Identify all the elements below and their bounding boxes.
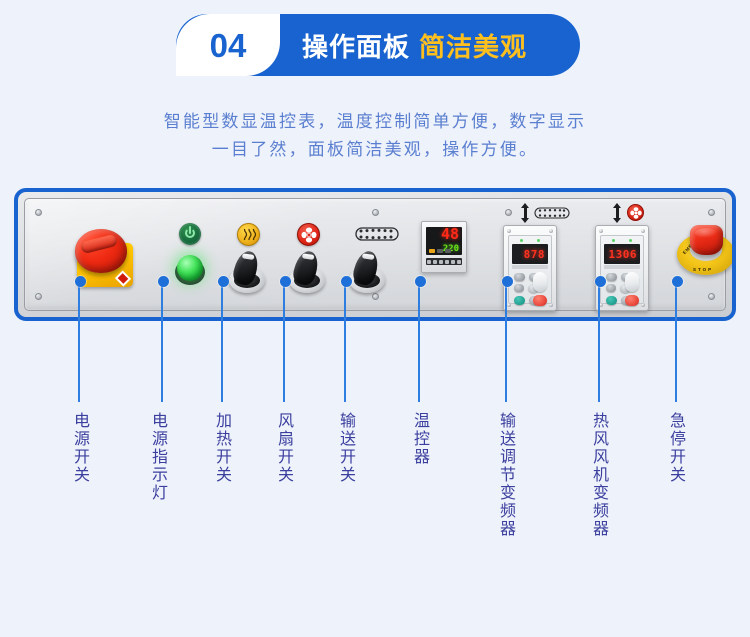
power-lamp-lens [177, 255, 203, 281]
vfd-key[interactable] [514, 284, 524, 292]
power-symbol-icon [179, 223, 201, 245]
vfd-run-key[interactable] [606, 296, 617, 305]
section-title-main: 操作面板 [302, 27, 410, 64]
description-line-1: 智能型数显温控表，温度控制简单方便，数字显示 [0, 108, 750, 136]
description-line-2: 一目了然，面板简洁美观，操作方便。 [0, 136, 750, 164]
callout-label-blower-inverter: 热风风机变频器 [587, 412, 609, 538]
fan-selector-switch[interactable] [289, 251, 325, 293]
disconnect-off-marker-icon [115, 270, 131, 286]
temperature-pv-value: 48 [441, 227, 459, 242]
callout-label-conveyor-inverter: 输送调节变频器 [494, 412, 516, 538]
emergency-stop-button[interactable]: EMER STOP [677, 225, 735, 279]
vfd-unit-legend [512, 265, 548, 269]
temperature-controller-display: 48 220 [426, 227, 462, 255]
callout-label-heating-switch: 加热开关 [210, 412, 232, 484]
disconnect-switch-lever [80, 234, 118, 254]
section-header-banner: 04 操作面板 简洁美观 [176, 14, 580, 76]
conveyor-inverter-display: 878 [512, 244, 548, 264]
power-disconnect-switch[interactable] [73, 229, 135, 289]
vfd-key[interactable] [514, 273, 525, 281]
heat-icon [237, 223, 260, 246]
panel-screw-icon [708, 209, 715, 216]
callout-label-emergency-stop: 急停开关 [664, 412, 686, 484]
callout-label-fan-switch: 风扇开关 [272, 412, 294, 484]
callout-label-power-switch: 电源开关 [68, 412, 90, 484]
vfd-status-leds [605, 238, 639, 243]
control-panel-photo: 48 220 [14, 188, 736, 321]
section-title-accent: 简洁美观 [419, 27, 527, 64]
vfd-potentiometer-knob[interactable] [625, 272, 639, 292]
blower-inverter-keypad[interactable] [603, 272, 641, 301]
panel-screw-icon [35, 293, 42, 300]
vfd-status-leds [513, 238, 547, 243]
vfd-screw-icon [507, 229, 511, 233]
vfd-key[interactable] [606, 273, 617, 281]
panel-screw-icon [372, 209, 379, 216]
callout-label-temperature-control: 温控器 [408, 412, 430, 466]
vfd-key[interactable] [606, 284, 616, 292]
conveyor-selector-switch[interactable] [349, 251, 385, 293]
fan-icon [297, 223, 320, 246]
heating-selector-switch[interactable] [229, 251, 265, 293]
section-description: 智能型数显温控表，温度控制简单方便，数字显示 一目了然，面板简洁美观，操作方便。 [0, 108, 750, 164]
blower-inverter-display: 1306 [604, 244, 640, 264]
conveyor-inverter[interactable]: 878 [503, 225, 557, 311]
section-number-badge: 04 [176, 14, 280, 76]
vfd-faceplate: 878 [508, 235, 552, 304]
temperature-controller[interactable]: 48 220 [421, 221, 467, 273]
up-down-arrow-icon [521, 203, 530, 223]
panel-screw-icon [372, 293, 379, 300]
vfd-potentiometer-knob[interactable] [533, 272, 547, 292]
vfd-unit-legend [604, 265, 640, 269]
power-indicator-lamp [175, 255, 205, 285]
temperature-status-leds [429, 249, 451, 253]
disconnect-switch-knob[interactable] [75, 229, 127, 273]
vfd-stop-key[interactable] [533, 295, 547, 306]
panel-screw-icon [505, 209, 512, 216]
blower-inverter[interactable]: 1306 [595, 225, 649, 311]
callout-label-conveyor-switch: 输送开关 [334, 412, 356, 484]
conveyor-inverter-value: 878 [524, 248, 545, 261]
vfd-screw-icon [549, 229, 553, 233]
panel-screw-icon [35, 209, 42, 216]
vfd-run-key[interactable] [514, 296, 525, 305]
temperature-controller-keypad[interactable] [426, 258, 462, 265]
section-number-text: 04 [210, 29, 247, 62]
vfd-screw-icon [641, 229, 645, 233]
panel-metal-face: 48 220 [24, 198, 726, 311]
panel-screw-icon [708, 293, 715, 300]
conveyor-chain-icon [533, 205, 571, 221]
section-title-group: 操作面板 简洁美观 [302, 27, 527, 64]
up-down-arrow-icon [613, 203, 622, 223]
vfd-faceplate: 1306 [600, 235, 644, 304]
conveyor-chain-icon [353, 224, 401, 244]
callout-label-power-indicator: 电源指示灯 [146, 412, 168, 502]
emergency-stop-ring-text-right: STOP [693, 267, 713, 272]
vfd-screw-icon [599, 229, 603, 233]
blower-inverter-value: 1306 [609, 248, 638, 261]
fan-icon [627, 204, 644, 221]
emergency-stop-head[interactable] [690, 225, 723, 255]
conveyor-inverter-keypad[interactable] [511, 272, 549, 301]
vfd-stop-key[interactable] [625, 295, 639, 306]
